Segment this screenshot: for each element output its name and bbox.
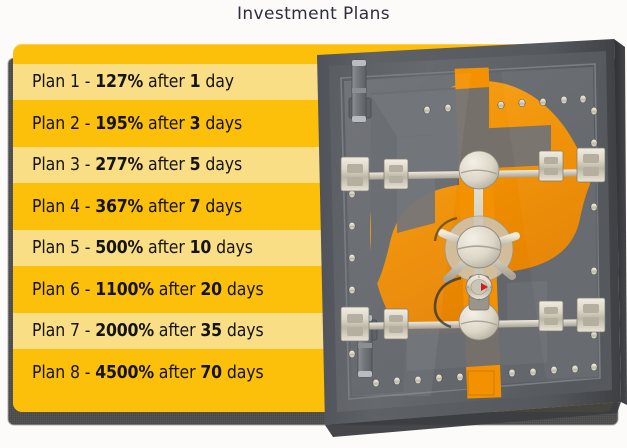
plan-term-unit: day	[200, 72, 234, 92]
plan-term: 70	[200, 363, 222, 383]
plan-term-unit: days	[222, 280, 264, 300]
plan-connector: after	[143, 155, 190, 175]
plan-term-unit: days	[222, 363, 264, 383]
plan-name: Plan 8 -	[32, 363, 95, 383]
bank-vault-door	[311, 33, 627, 442]
plan-name: Plan 7 -	[32, 321, 95, 341]
plan-term: 35	[200, 321, 222, 341]
plan-term-unit: days	[211, 238, 253, 258]
plan-rate: 195%	[95, 114, 143, 134]
plan-rate: 127%	[95, 72, 143, 92]
plan-name: Plan 4 -	[32, 197, 95, 217]
plan-term: 3	[190, 114, 201, 134]
plan-label: Plan 4 - 367% after 7 days	[32, 197, 242, 217]
plan-connector: after	[143, 238, 190, 258]
plan-term: 20	[200, 280, 222, 300]
vault-combination-dial	[466, 275, 492, 311]
plan-term: 7	[190, 197, 201, 217]
plan-label: Plan 1 - 127% after 1 day	[32, 72, 234, 92]
plan-rate: 500%	[95, 238, 143, 258]
plan-rate: 2000%	[95, 321, 154, 341]
plan-connector: after	[154, 321, 201, 341]
plan-name: Plan 3 -	[32, 155, 95, 175]
vault-indicator-plate	[468, 371, 494, 395]
plan-label: Plan 3 - 277% after 5 days	[32, 155, 242, 175]
plan-name: Plan 2 -	[32, 114, 95, 134]
plan-term: 1	[190, 72, 201, 92]
plan-label: Plan 6 - 1100% after 20 days	[32, 280, 264, 300]
plan-term-unit: days	[222, 321, 264, 341]
plan-connector: after	[154, 363, 201, 383]
plan-term-unit: days	[200, 114, 242, 134]
page-title: Investment Plans	[0, 4, 627, 24]
plan-connector: after	[143, 114, 190, 134]
plan-rate: 4500%	[95, 363, 154, 383]
plan-name: Plan 6 -	[32, 280, 95, 300]
plan-term: 10	[190, 238, 212, 258]
plan-connector: after	[143, 197, 190, 217]
plan-rate: 367%	[95, 197, 143, 217]
plan-term-unit: days	[200, 197, 242, 217]
investment-plans-banner: Investment Plans Plan 1 - 127% after 1 d…	[0, 0, 627, 448]
plan-term-unit: days	[200, 155, 242, 175]
plan-rate: 277%	[95, 155, 143, 175]
plan-name: Plan 5 -	[32, 238, 95, 258]
plan-connector: after	[143, 72, 190, 92]
plan-term: 5	[190, 155, 201, 175]
plan-rate: 1100%	[95, 280, 154, 300]
plan-name: Plan 1 -	[32, 72, 95, 92]
plan-label: Plan 2 - 195% after 3 days	[32, 114, 242, 134]
plan-label: Plan 5 - 500% after 10 days	[32, 238, 253, 258]
vault-hub-upper	[459, 151, 499, 189]
plan-label: Plan 8 - 4500% after 70 days	[32, 363, 264, 383]
plan-connector: after	[154, 280, 201, 300]
plan-label: Plan 7 - 2000% after 35 days	[32, 321, 264, 341]
